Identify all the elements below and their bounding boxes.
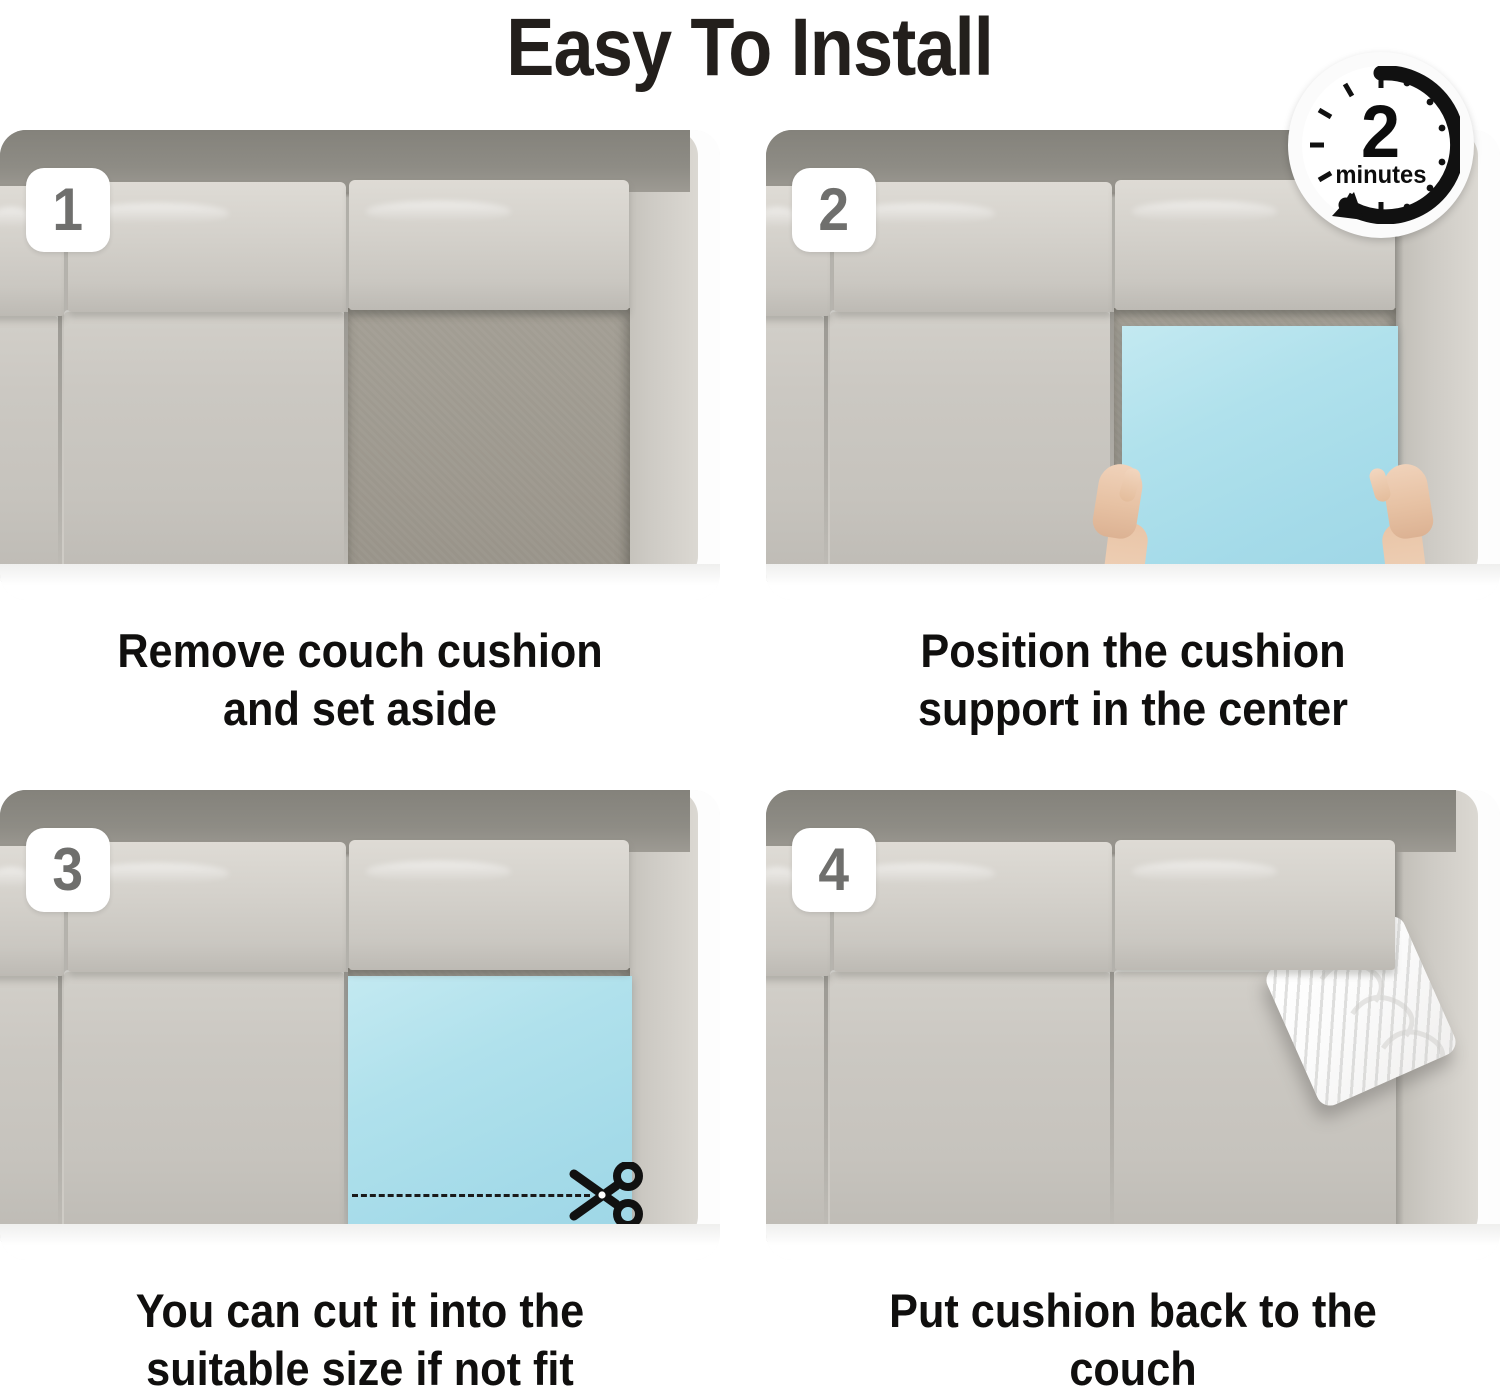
steps-grid: 1 Remove couch cushion and set aside xyxy=(0,96,1500,1398)
floor-strip xyxy=(766,564,1500,600)
scissors-icon xyxy=(568,1162,644,1228)
caption-line-1: Position the cushion xyxy=(795,622,1470,680)
seat-seam xyxy=(1110,972,1114,1238)
clock-number: 2 xyxy=(1361,102,1400,163)
seat-cushion-left-partial xyxy=(0,314,58,576)
seat-seam xyxy=(58,314,62,576)
page-title: Easy To Install xyxy=(507,7,994,89)
step-number-badge: 4 xyxy=(792,828,876,912)
caption-line-2: and set aside xyxy=(29,680,691,738)
step-1-caption: Remove couch cushion and set aside xyxy=(29,622,691,738)
caption-line-1: Put cushion back to the xyxy=(795,1282,1470,1340)
seat-cushion-left-partial xyxy=(766,314,824,576)
page-header: Easy To Install xyxy=(0,0,1500,96)
step-number-badge: 2 xyxy=(792,168,876,252)
step-4-photo: 4 xyxy=(766,790,1500,1260)
step-number: 3 xyxy=(53,840,84,900)
dashed-cut-line xyxy=(352,1194,590,1197)
exposed-deck xyxy=(348,308,630,576)
seat-seam xyxy=(824,974,828,1236)
couch-illustration xyxy=(766,790,1500,1260)
seat-seam xyxy=(58,974,62,1236)
cushion-support-board xyxy=(1122,326,1398,584)
seat-cushion-middle xyxy=(64,310,344,578)
step-1: 1 Remove couch cushion and set aside xyxy=(0,130,720,738)
seat-cushion-middle xyxy=(64,970,344,1238)
caption-line-2: couch xyxy=(795,1340,1470,1398)
caption-line-2: suitable size if not fit xyxy=(29,1340,691,1398)
clock-face: 2 minutes xyxy=(1302,66,1460,224)
seat-seam xyxy=(824,314,828,576)
two-minutes-clock-badge: 2 minutes xyxy=(1288,52,1474,238)
step-4-caption: Put cushion back to the couch xyxy=(795,1282,1470,1398)
seat-cushion-left-partial xyxy=(766,974,824,1236)
seat-cushion-middle xyxy=(830,310,1110,578)
step-number: 2 xyxy=(819,180,850,240)
clock-unit: minutes xyxy=(1335,163,1426,188)
back-cushion-right xyxy=(1115,840,1395,970)
step-2-caption: Position the cushion support in the cent… xyxy=(795,622,1470,738)
step-number: 1 xyxy=(53,180,84,240)
back-cushion-right xyxy=(349,840,629,970)
caption-line-1: You can cut it into the xyxy=(29,1282,691,1340)
back-cushion-right xyxy=(349,180,629,310)
floor-strip xyxy=(0,1224,720,1260)
caption-line-2: support in the center xyxy=(795,680,1470,738)
step-1-photo: 1 xyxy=(0,130,720,600)
step-number-badge: 3 xyxy=(26,828,110,912)
seat-cushion-middle xyxy=(830,970,1110,1238)
step-3: 3 You can cut it into the suitable size … xyxy=(0,790,720,1398)
step-number-badge: 1 xyxy=(26,168,110,252)
seat-cushion-left-partial xyxy=(0,974,58,1236)
clock-label-group: 2 minutes xyxy=(1302,66,1460,224)
caption-line-1: Remove couch cushion xyxy=(29,622,691,680)
floor-strip xyxy=(766,1224,1500,1260)
step-3-photo: 3 xyxy=(0,790,720,1260)
floor-strip xyxy=(0,564,720,600)
seat-seam xyxy=(344,312,348,578)
step-3-caption: You can cut it into the suitable size if… xyxy=(29,1282,691,1398)
step-4: 4 Put cushion back to the couch xyxy=(766,790,1486,1398)
step-number: 4 xyxy=(819,840,850,900)
